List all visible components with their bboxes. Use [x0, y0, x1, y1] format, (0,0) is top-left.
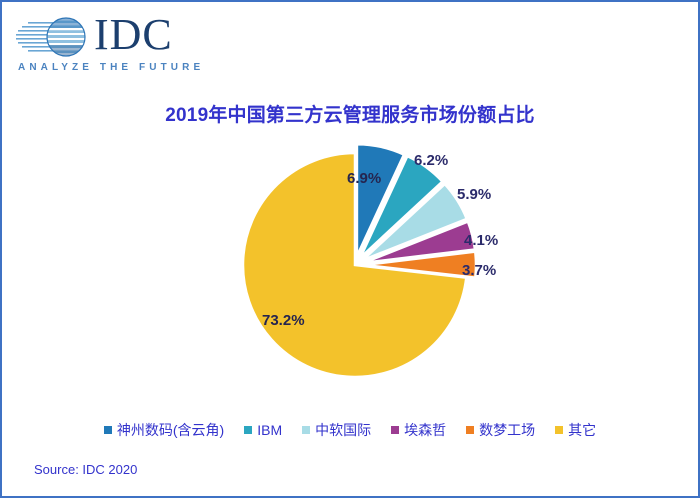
chart-legend: 神州数码(含云角)IBM中软国际埃森哲数梦工场其它: [2, 420, 698, 440]
chart-title: 2019年中国第三方云管理服务市场份额占比: [2, 100, 698, 127]
legend-label: 数梦工场: [479, 420, 535, 440]
legend-swatch-icon: [391, 426, 399, 434]
idc-wordmark: IDC: [94, 12, 173, 58]
slice-label-2: 5.9%: [457, 186, 491, 203]
slice-label-5: 73.2%: [262, 312, 305, 329]
slice-label-1: 6.2%: [414, 152, 448, 169]
legend-label: 埃森哲: [404, 420, 446, 440]
legend-swatch-icon: [466, 426, 474, 434]
legend-swatch-icon: [555, 426, 563, 434]
legend-swatch-icon: [244, 426, 252, 434]
legend-swatch-icon: [302, 426, 310, 434]
pie-chart-plot: 6.9% 6.2% 5.9% 4.1% 3.7% 73.2%: [2, 132, 698, 402]
legend-item[interactable]: 中软国际: [302, 420, 371, 440]
legend-item[interactable]: 其它: [555, 420, 596, 440]
legend-item[interactable]: 埃森哲: [391, 420, 446, 440]
slice-label-3: 4.1%: [464, 232, 498, 249]
chart-page: IDC ANALYZE THE FUTURE 2019年中国第三方云管理服务市场…: [0, 0, 700, 498]
idc-tagline: ANALYZE THE FUTURE: [18, 62, 204, 73]
legend-label: IBM: [257, 422, 282, 438]
source-note: Source: IDC 2020: [34, 462, 137, 477]
legend-label: 其它: [568, 420, 596, 440]
legend-label: 中软国际: [315, 420, 371, 440]
slice-label-0: 6.9%: [347, 170, 381, 187]
legend-item[interactable]: 数梦工场: [466, 420, 535, 440]
legend-item[interactable]: IBM: [244, 422, 282, 438]
striped-globe-icon: [16, 16, 91, 62]
legend-swatch-icon: [104, 426, 112, 434]
legend-item[interactable]: 神州数码(含云角): [104, 420, 224, 440]
slice-label-4: 3.7%: [462, 262, 496, 279]
idc-logo: IDC ANALYZE THE FUTURE: [16, 14, 246, 76]
legend-label: 神州数码(含云角): [117, 420, 224, 440]
